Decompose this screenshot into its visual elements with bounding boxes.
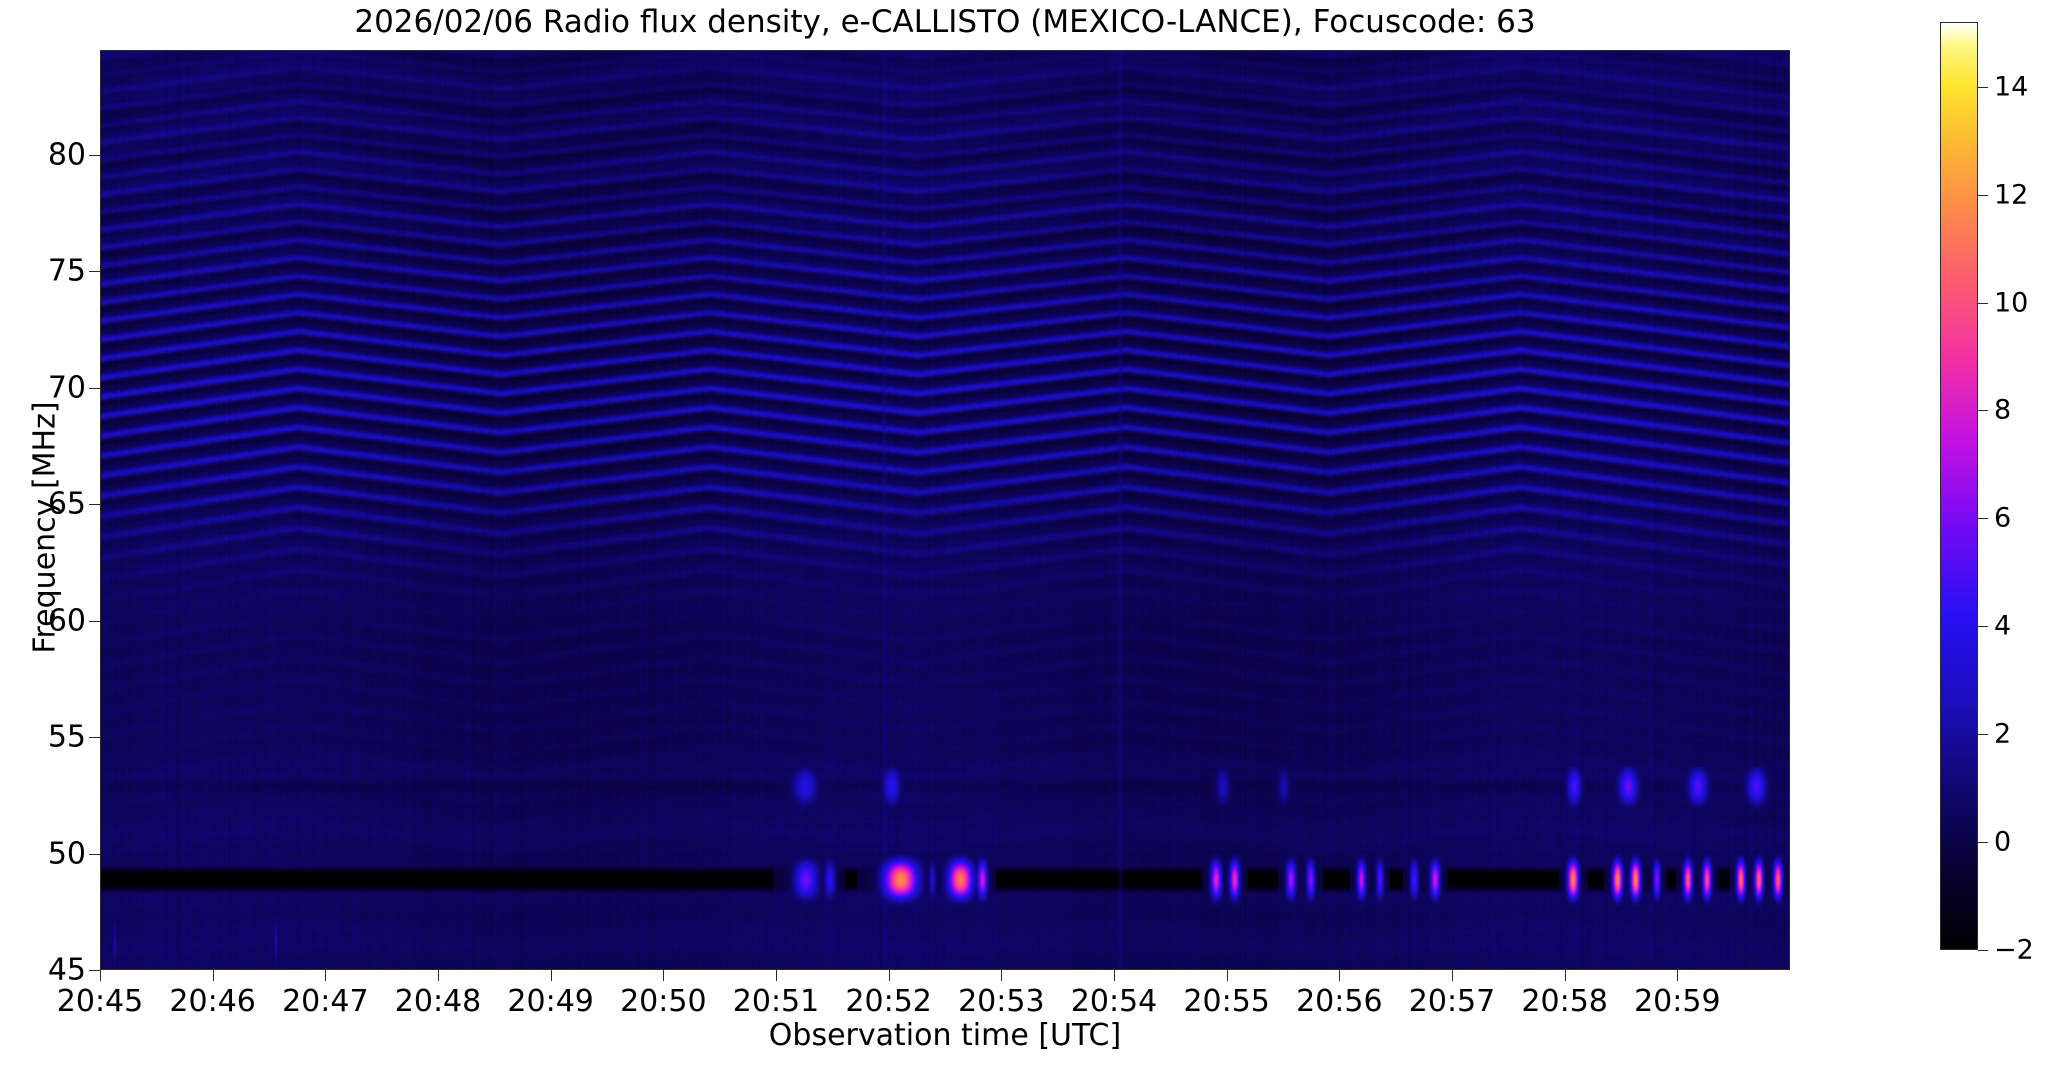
colorbar-tick-mark xyxy=(1978,518,1988,519)
x-tick-mark xyxy=(213,970,214,981)
x-tick-label: 20:59 xyxy=(1634,984,1720,1019)
colorbar-tick-label: 2 xyxy=(1994,719,2011,750)
y-tick-mark xyxy=(89,504,100,505)
x-tick-label: 20:50 xyxy=(620,984,706,1019)
colorbar[interactable] xyxy=(1940,22,1978,950)
x-tick-label: 20:49 xyxy=(507,984,593,1019)
colorbar-tick-mark xyxy=(1978,626,1988,627)
x-tick-mark xyxy=(1565,970,1566,981)
y-tick-mark xyxy=(89,737,100,738)
colorbar-tick-mark xyxy=(1978,303,1988,304)
x-tick-mark xyxy=(551,970,552,981)
colorbar-tick-label: 12 xyxy=(1994,179,2028,210)
x-tick-mark xyxy=(889,970,890,981)
colorbar-gradient xyxy=(1941,23,1977,949)
x-tick-label: 20:47 xyxy=(282,984,368,1019)
x-tick-mark xyxy=(1114,970,1115,981)
colorbar-tick-mark xyxy=(1978,195,1988,196)
spectrogram-image xyxy=(101,51,1790,970)
x-tick-label: 20:55 xyxy=(1183,984,1269,1019)
colorbar-tick-label: 4 xyxy=(1994,611,2011,642)
y-tick-mark xyxy=(89,155,100,156)
colorbar-tick-label: 6 xyxy=(1994,503,2011,534)
x-tick-mark xyxy=(1452,970,1453,981)
y-axis-label: Frequency [MHz] xyxy=(28,68,63,988)
colorbar-tick-mark xyxy=(1978,842,1988,843)
colorbar-tick-label: 8 xyxy=(1994,395,2011,426)
y-tick-mark xyxy=(89,388,100,389)
spectrogram-plot-area[interactable] xyxy=(100,50,1790,970)
x-tick-label: 20:58 xyxy=(1521,984,1607,1019)
colorbar-ticks: −202468101214 xyxy=(1978,22,2038,950)
spectrogram-figure: 2026/02/06 Radio flux density, e-CALLIST… xyxy=(0,0,2047,1067)
x-tick-mark xyxy=(1227,970,1228,981)
x-tick-mark xyxy=(1001,970,1002,981)
page-title: 2026/02/06 Radio flux density, e-CALLIST… xyxy=(100,4,1790,40)
x-tick-label: 20:46 xyxy=(169,984,255,1019)
colorbar-tick-mark xyxy=(1978,950,1988,951)
x-tick-mark xyxy=(325,970,326,981)
x-tick-mark xyxy=(100,970,101,981)
x-tick-label: 20:56 xyxy=(1296,984,1382,1019)
x-axis-ticks: 20:4520:4620:4720:4820:4920:5020:5120:52… xyxy=(100,970,1790,1020)
x-tick-label: 20:53 xyxy=(958,984,1044,1019)
x-tick-mark xyxy=(1339,970,1340,981)
colorbar-tick-label: 14 xyxy=(1994,71,2028,102)
y-tick-mark xyxy=(89,621,100,622)
colorbar-tick-mark xyxy=(1978,87,1988,88)
x-tick-label: 20:51 xyxy=(733,984,819,1019)
y-tick-mark xyxy=(89,271,100,272)
x-tick-mark xyxy=(438,970,439,981)
x-tick-label: 20:54 xyxy=(1071,984,1157,1019)
x-tick-mark xyxy=(663,970,664,981)
colorbar-tick-mark xyxy=(1978,734,1988,735)
x-tick-mark xyxy=(776,970,777,981)
x-tick-label: 20:48 xyxy=(395,984,481,1019)
x-axis-label: Observation time [UTC] xyxy=(100,1018,1790,1053)
x-tick-mark xyxy=(1677,970,1678,981)
y-tick-mark xyxy=(89,970,100,971)
x-tick-label: 20:52 xyxy=(845,984,931,1019)
colorbar-tick-label: −2 xyxy=(1994,935,2034,966)
y-tick-mark xyxy=(89,854,100,855)
x-tick-label: 20:57 xyxy=(1409,984,1495,1019)
x-tick-label: 20:45 xyxy=(57,984,143,1019)
colorbar-tick-mark xyxy=(1978,410,1988,411)
colorbar-tick-label: 0 xyxy=(1994,827,2011,858)
colorbar-tick-label: 10 xyxy=(1994,287,2028,318)
